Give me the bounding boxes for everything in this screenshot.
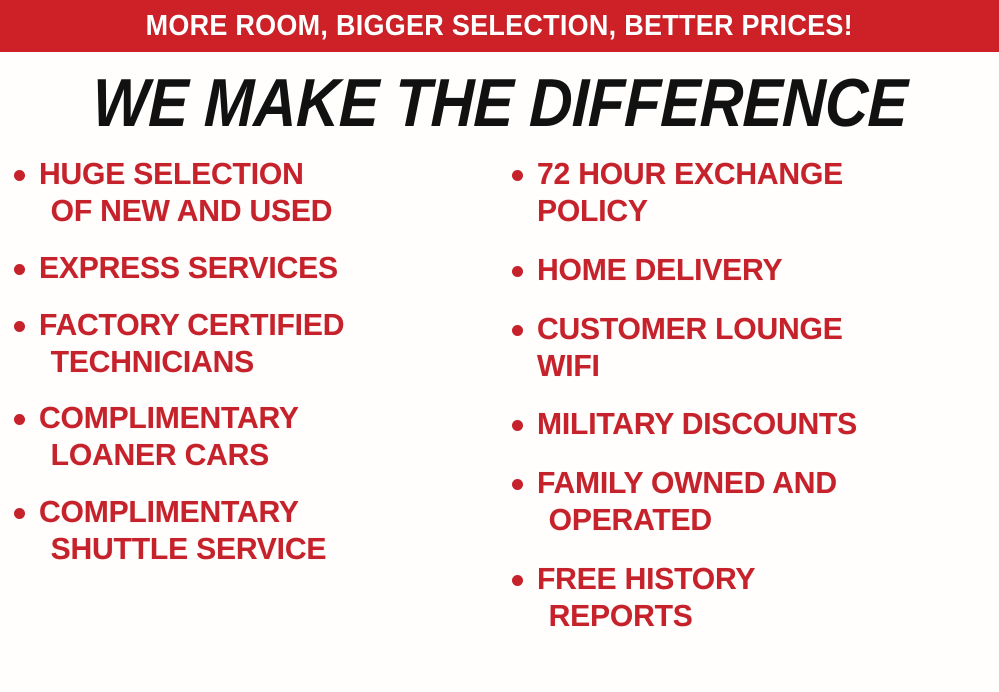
feature-bullet-text: MILITARY DISCOUNTS [537, 406, 857, 443]
feature-bullet-text: COMPLIMENTARYSHUTTLE SERVICE [39, 494, 326, 568]
feature-bullet-line2: TECHNICIANS [39, 344, 344, 381]
feature-bullet-line1: COMPLIMENTARY [39, 494, 299, 529]
feature-bullet-line2: WIFI [537, 348, 843, 385]
feature-bullet-item: FAMILY OWNED ANDOPERATED [512, 465, 996, 539]
feature-bullet-line2: REPORTS [537, 598, 755, 635]
bullet-dot-icon [512, 420, 523, 431]
main-headline: WE MAKE THE DIFFERENCE [91, 69, 908, 137]
feature-bullet-line1: FREE HISTORY [537, 561, 755, 596]
bullet-dot-icon [14, 321, 25, 332]
feature-bullet-item: FREE HISTORYREPORTS [512, 561, 996, 635]
feature-bullet-line1: COMPLIMENTARY [39, 400, 299, 435]
bullet-dot-icon [14, 508, 25, 519]
feature-bullet-item: FACTORY CERTIFIEDTECHNICIANS [14, 307, 494, 381]
bullet-dot-icon [512, 325, 523, 336]
top-promo-banner: MORE ROOM, BIGGER SELECTION, BETTER PRIC… [0, 0, 999, 52]
bullet-dot-icon [512, 266, 523, 277]
bullet-dot-icon [512, 575, 523, 586]
feature-bullet-item: COMPLIMENTARYLOANER CARS [14, 400, 494, 474]
feature-bullet-text: CUSTOMER LOUNGEWIFI [537, 311, 843, 385]
feature-bullet-item: MILITARY DISCOUNTS [512, 406, 996, 443]
feature-bullet-line1: FACTORY CERTIFIED [39, 307, 344, 342]
feature-bullet-text: HOME DELIVERY [537, 252, 782, 289]
bullet-dot-icon [14, 414, 25, 425]
feature-bullet-line1: HUGE SELECTION [39, 156, 304, 191]
feature-bullet-line1: HOME DELIVERY [537, 252, 782, 287]
feature-bullet-item: COMPLIMENTARYSHUTTLE SERVICE [14, 494, 494, 568]
headline-container: WE MAKE THE DIFFERENCE [0, 52, 999, 150]
features-columns: HUGE SELECTIONOF NEW AND USEDEXPRESS SER… [0, 150, 999, 692]
feature-bullet-line1: CUSTOMER LOUNGE [537, 311, 843, 346]
feature-bullet-item: HUGE SELECTIONOF NEW AND USED [14, 156, 494, 230]
features-column-left: HUGE SELECTIONOF NEW AND USEDEXPRESS SER… [0, 150, 500, 692]
feature-bullet-text: 72 HOUR EXCHANGEPOLICY [537, 156, 843, 230]
bullet-dot-icon [14, 170, 25, 181]
promo-banner-text: MORE ROOM, BIGGER SELECTION, BETTER PRIC… [146, 12, 853, 41]
feature-bullet-line2: LOANER CARS [39, 437, 299, 474]
feature-bullet-text: FAMILY OWNED ANDOPERATED [537, 465, 837, 539]
feature-bullet-line2: OF NEW AND USED [39, 193, 332, 230]
feature-bullet-line1: MILITARY DISCOUNTS [537, 406, 857, 441]
feature-bullet-line2: POLICY [537, 193, 843, 230]
feature-bullet-item: EXPRESS SERVICES [14, 250, 494, 287]
features-column-right: 72 HOUR EXCHANGEPOLICYHOME DELIVERYCUSTO… [500, 150, 999, 692]
advertisement-banner: MORE ROOM, BIGGER SELECTION, BETTER PRIC… [0, 0, 999, 692]
feature-bullet-line1: EXPRESS SERVICES [39, 250, 338, 285]
bullet-dot-icon [512, 170, 523, 181]
feature-bullet-text: HUGE SELECTIONOF NEW AND USED [39, 156, 332, 230]
feature-bullet-item: CUSTOMER LOUNGEWIFI [512, 311, 996, 385]
feature-bullet-text: FACTORY CERTIFIEDTECHNICIANS [39, 307, 344, 381]
feature-bullet-line2: SHUTTLE SERVICE [39, 531, 326, 568]
feature-bullet-item: HOME DELIVERY [512, 252, 996, 289]
feature-bullet-line1: FAMILY OWNED AND [537, 465, 837, 500]
bullet-dot-icon [512, 479, 523, 490]
feature-bullet-line2: OPERATED [537, 502, 837, 539]
feature-bullet-line1: 72 HOUR EXCHANGE [537, 156, 843, 191]
feature-bullet-text: FREE HISTORYREPORTS [537, 561, 755, 635]
feature-bullet-text: COMPLIMENTARYLOANER CARS [39, 400, 299, 474]
feature-bullet-text: EXPRESS SERVICES [39, 250, 338, 287]
feature-bullet-item: 72 HOUR EXCHANGEPOLICY [512, 156, 996, 230]
bullet-dot-icon [14, 264, 25, 275]
